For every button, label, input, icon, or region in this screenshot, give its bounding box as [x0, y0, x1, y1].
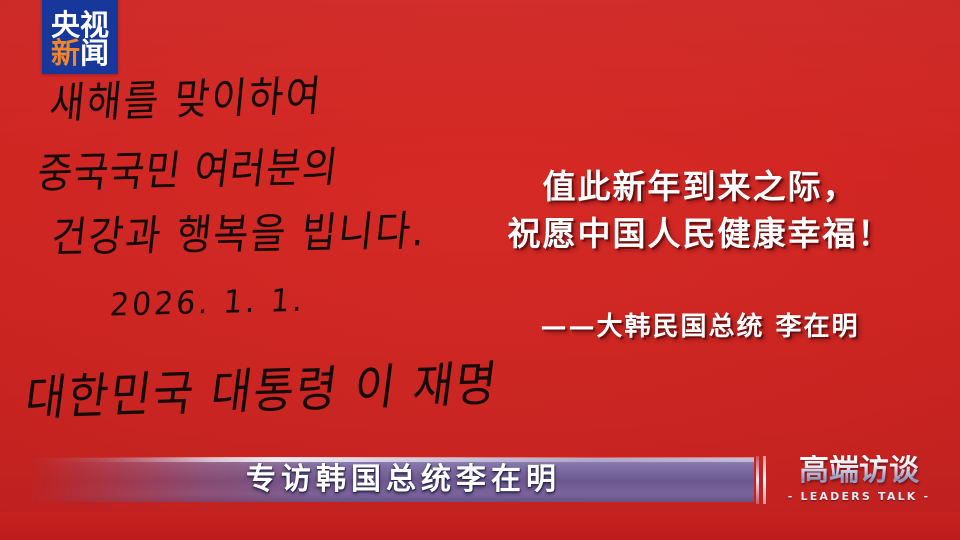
cctv-logo-line-two: 新 闻 [51, 40, 109, 68]
lower-third-divider-outer [756, 456, 759, 504]
handwriting-line-3: 건강과 행복을 빕니다. [49, 197, 430, 264]
chinese-translation-block: 值此新年到来之际， 祝愿中国人民健康幸福！ [470, 164, 930, 258]
cctv-logo-text-wen: 闻 [80, 40, 109, 68]
lower-third-banner: 专访韩国总统李在明 高端访谈 - LEADERS TALK - [0, 452, 960, 512]
cctv-news-logo: 央视 新 闻 [42, 0, 118, 74]
cctv-logo-text-yangshi: 央视 [51, 12, 109, 40]
bottom-red-strip [0, 512, 960, 540]
handwriting-line-2: 중국국민 여러분의 [34, 133, 342, 200]
cctv-logo-text-xin: 新 [51, 40, 80, 68]
program-logo-chinese: 高端访谈 [776, 455, 942, 487]
chinese-attribution: ——大韩民国总统 李在明 [470, 306, 930, 343]
handwriting-line-1: 새해를 맞이하여 [47, 61, 326, 130]
lower-third-divider-inner [763, 456, 766, 504]
chinese-translation-line-2: 祝愿中国人民健康幸福！ [470, 211, 930, 258]
lower-third-headline: 专访韩国总统李在明 [246, 463, 561, 497]
handwriting-date: 2026. 1. 1. [109, 282, 307, 324]
program-logo: 高端访谈 - LEADERS TALK - [776, 455, 942, 503]
chinese-translation-line-1: 值此新年到来之际， [470, 164, 930, 211]
program-logo-english: - LEADERS TALK - [776, 490, 942, 503]
cctv-logo-line-one: 央视 [51, 12, 109, 40]
broadcast-screen: 央视 新 闻 새해를 맞이하여 중국국민 여러분의 건강과 행복을 빕니다. 2… [0, 0, 960, 540]
